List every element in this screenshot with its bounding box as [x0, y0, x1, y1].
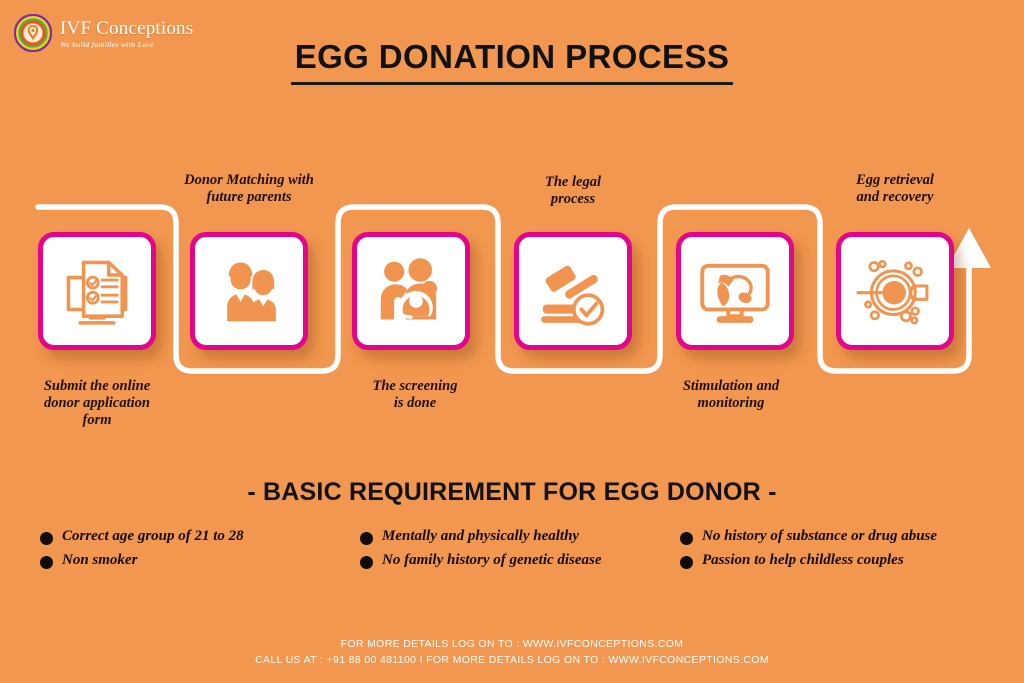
requirements-columns: Correct age group of 21 to 28 Non smoker…: [40, 528, 1000, 576]
requirement-label: Correct age group of 21 to 28: [62, 528, 244, 545]
process-step-label-6: Egg retrieval and recovery: [800, 172, 990, 206]
footer-website-line: FOR MORE DETAILS LOG ON TO : WWW.IVFCONC…: [0, 636, 1024, 652]
requirement-item: Correct age group of 21 to 28: [40, 528, 360, 545]
process-step-label-3: The screening is done: [320, 378, 510, 412]
bullet-dot-icon: [680, 556, 693, 569]
process-step-card-2[interactable]: [190, 232, 308, 350]
requirement-item: Passion to help childless couples: [680, 552, 1000, 569]
gavel-check-legal-icon: [531, 249, 615, 333]
step-label-text-1: Submit the online donor application form: [44, 378, 150, 428]
step-label-text-2: Donor Matching with future parents: [184, 172, 314, 205]
process-step-label-5: Stimulation and monitoring: [636, 378, 826, 412]
ultrasound-monitor-icon: [693, 249, 777, 333]
egg-retrieval-icsi-icon: [853, 249, 937, 333]
requirement-label: No family history of genetic disease: [382, 552, 602, 569]
bullet-dot-icon: [680, 532, 693, 545]
requirement-item: No family history of genetic disease: [360, 552, 680, 569]
process-step-card-4[interactable]: [514, 232, 632, 350]
family-with-baby-screening-icon: [369, 249, 453, 333]
process-flow: Submit the online donor application form…: [0, 150, 1024, 450]
brand-name: IVF Conceptions: [60, 19, 193, 38]
requirement-label: No history of substance or drug abuse: [702, 528, 937, 545]
footer-contact-line: CALL US AT : +91 88 00 481100 I FOR MORE…: [0, 652, 1024, 668]
requirements-heading: - BASIC REQUIREMENT FOR EGG DONOR -: [0, 478, 1024, 507]
process-step-card-1[interactable]: [38, 232, 156, 350]
step-label-text-5: Stimulation and monitoring: [683, 378, 779, 411]
bullet-dot-icon: [40, 532, 53, 545]
requirements-column-2: Mentally and physically healthy No famil…: [360, 528, 680, 576]
page-title-text: EGG DONATION PROCESS: [291, 38, 734, 85]
step-label-text-4: The legal process: [545, 174, 601, 207]
process-step-card-5[interactable]: [676, 232, 794, 350]
process-step-label-1: Submit the online donor application form: [2, 378, 192, 429]
requirement-label: Passion to help childless couples: [702, 552, 904, 569]
requirement-item: No history of substance or drug abuse: [680, 528, 1000, 545]
requirement-label: Mentally and physically healthy: [382, 528, 579, 545]
requirement-label: Non smoker: [62, 552, 137, 569]
requirements-column-3: No history of substance or drug abuse Pa…: [680, 528, 1000, 576]
process-step-label-2: Donor Matching with future parents: [154, 172, 344, 206]
bullet-dot-icon: [360, 556, 373, 569]
requirement-item: Mentally and physically healthy: [360, 528, 680, 545]
process-step-label-4: The legal process: [478, 174, 668, 208]
requirements-heading-text: - BASIC REQUIREMENT FOR EGG DONOR -: [247, 478, 776, 506]
requirement-item: Non smoker: [40, 552, 360, 569]
future-parents-couple-icon: [207, 249, 291, 333]
online-application-form-icon: [55, 249, 139, 333]
requirements-column-1: Correct age group of 21 to 28 Non smoker: [40, 528, 360, 576]
page-title: EGG DONATION PROCESS: [0, 38, 1024, 85]
bullet-dot-icon: [40, 556, 53, 569]
step-label-text-3: The screening is done: [373, 378, 458, 411]
process-step-card-3[interactable]: [352, 232, 470, 350]
footer: FOR MORE DETAILS LOG ON TO : WWW.IVFCONC…: [0, 636, 1024, 669]
bullet-dot-icon: [360, 532, 373, 545]
process-step-card-6[interactable]: [836, 232, 954, 350]
step-label-text-6: Egg retrieval and recovery: [856, 172, 934, 205]
